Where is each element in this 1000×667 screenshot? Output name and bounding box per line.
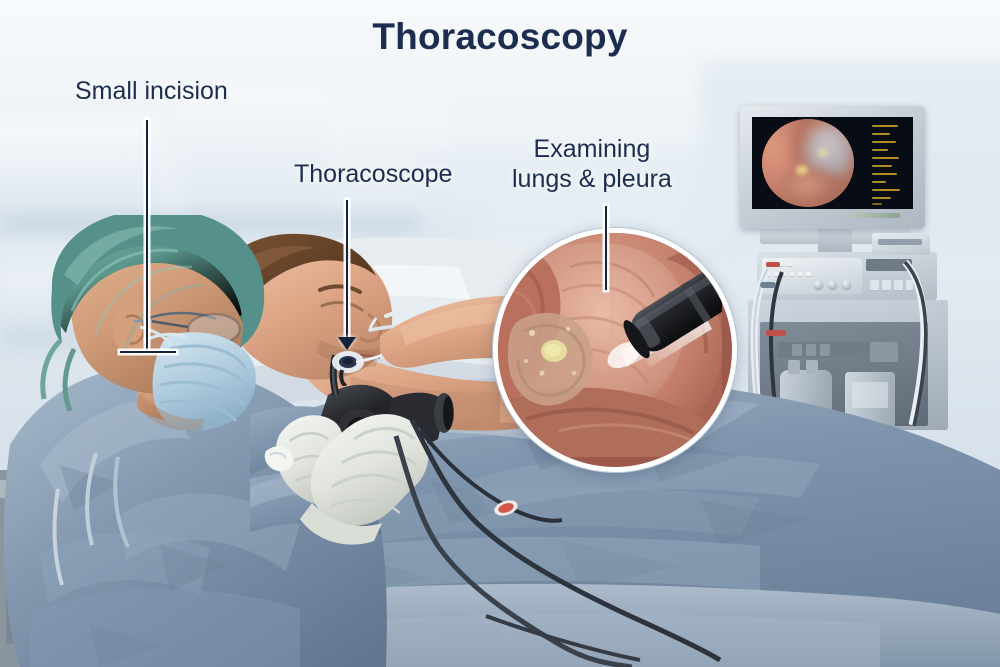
leader-line-examining (605, 206, 607, 290)
monitor-readout-line (872, 181, 886, 183)
leader-line-small-incision-horizontal (120, 351, 176, 353)
monitor-endoscopic-image (762, 119, 854, 207)
label-examining-lungs-pleura: Examining lungs & pleura (512, 135, 672, 194)
leader-line-thoracoscope (346, 200, 348, 338)
monitor-readout-line (872, 141, 896, 143)
endoscopic-view-circle (493, 228, 737, 472)
monitor-readout-line (872, 173, 897, 175)
monitor-readout-line (872, 125, 898, 127)
monitor-readout-line (872, 203, 882, 205)
monitor-readout-line (872, 149, 888, 151)
monitor-readout-line (872, 157, 899, 159)
scope-cables (300, 420, 800, 667)
monitor-indicator-bar (852, 213, 900, 218)
monitor-screen (752, 117, 913, 209)
label-thoracoscope: Thoracoscope (294, 160, 452, 190)
page-title: Thoracoscopy (0, 16, 1000, 58)
label-small-incision: Small incision (75, 77, 228, 107)
leader-line-small-incision-vertical (146, 120, 148, 352)
monitor-readout-line (872, 165, 892, 167)
illustration-canvas: Thoracoscopy (0, 0, 1000, 667)
monitor-readout-line (872, 189, 900, 191)
monitor-readout-line (872, 197, 891, 199)
monitor-readout-line (872, 133, 890, 135)
leader-arrowhead-thoracoscope (338, 337, 356, 350)
